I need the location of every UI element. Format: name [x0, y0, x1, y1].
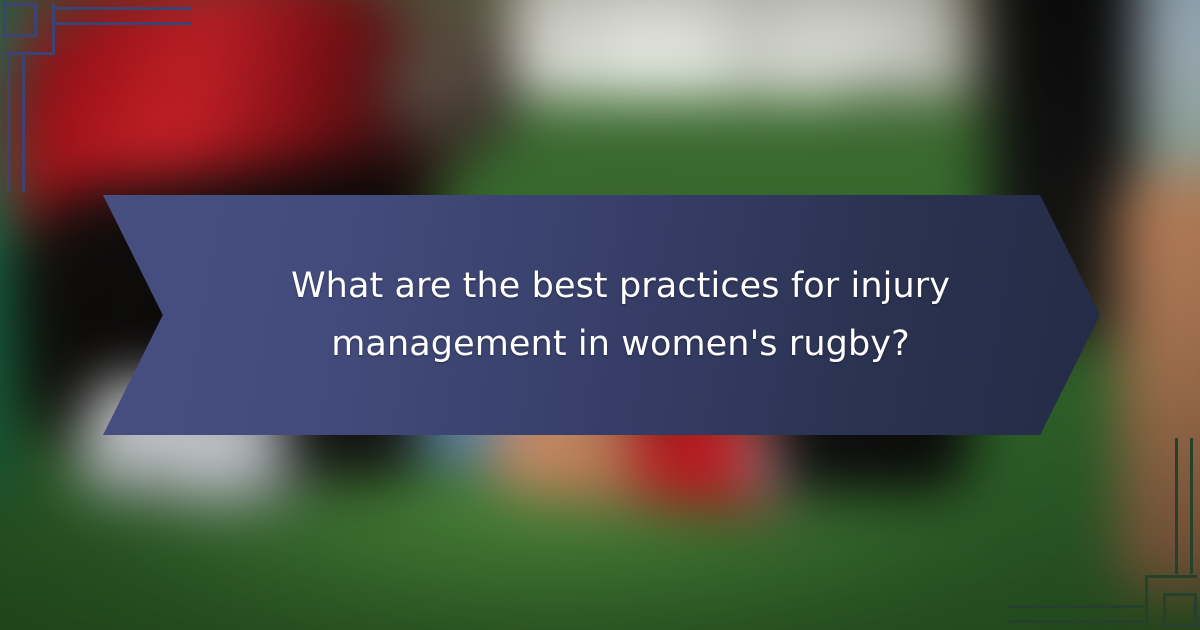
question-text: What are the best practices for injury m…	[261, 257, 981, 373]
question-banner: What are the best practices for injury m…	[103, 195, 1100, 435]
share-card: What are the best practices for injury m…	[0, 0, 1200, 630]
